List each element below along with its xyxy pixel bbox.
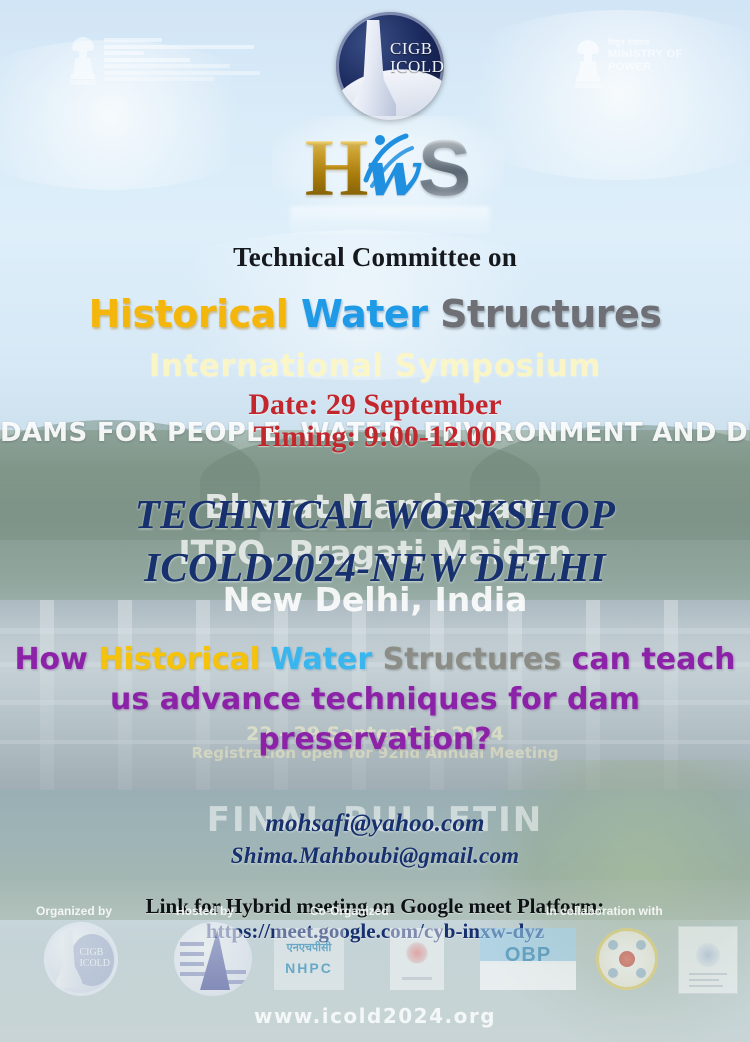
footer-label-organized-by: Organized by <box>36 904 112 918</box>
footer-obp-text: OBP <box>480 944 576 967</box>
workshop-line2: ICOLD2024-NEW DELHI <box>0 543 750 591</box>
page-title: Historical Water Structures <box>0 292 750 336</box>
footer-label-co-organized: Co-Organized <box>310 904 389 918</box>
footer-logo-nhpc[interactable]: एनएचपीसी NHPC <box>274 928 344 990</box>
question-block: How Historical Water Structures can teac… <box>0 640 750 760</box>
poster-root: International Symposium DAMS FOR PEOPLE,… <box>0 0 750 1042</box>
question-word-canteach: can teach <box>572 642 736 677</box>
cigb-icold-logo: CIGB ICOLD <box>336 12 444 120</box>
question-line2: us advance techniques for dam <box>0 680 750 720</box>
ministry-english-line1: MINISTRY OF <box>608 48 683 61</box>
title-part-historical: Historical <box>89 292 289 336</box>
government-of-india-emblem <box>70 35 260 87</box>
icold-logo-text: CIGB ICOLD <box>390 40 444 77</box>
footer-icold-text1: CIGB <box>79 948 110 959</box>
ministry-english-line2: POWER <box>608 61 683 74</box>
footer-logo-cwc[interactable] <box>174 922 252 996</box>
emblem-left-text-lines <box>104 35 260 87</box>
question-line1: How Historical Water Structures can teac… <box>0 640 750 680</box>
footer-nhpc-hindi: एनएचपीसी <box>274 940 344 955</box>
footer-icold-text2: ICOLD <box>79 959 110 970</box>
committee-prefix: Technical Committee on <box>0 242 750 273</box>
icold-logo-line1: CIGB <box>390 40 444 58</box>
contact-email-1[interactable]: mohsafi@yahoo.com <box>0 810 750 838</box>
footer-logo-certificate[interactable] <box>678 926 738 994</box>
title-part-water: Water <box>301 292 427 336</box>
footer-logo-strip: Organized by Hosted by Co-Organized In c… <box>0 900 750 1010</box>
footer-label-hosted-by: Hosted by <box>176 904 234 918</box>
footer-label-collaboration: In collaboration with <box>546 904 663 918</box>
workshop-line1: TECHNICAL WORKSHOP <box>0 490 750 538</box>
title-part-structures: Structures <box>440 292 661 336</box>
footer-logo-obp[interactable]: OBP <box>480 928 576 990</box>
ministry-of-power-text: विद्युत मंत्रालय MINISTRY OF POWER <box>608 38 683 90</box>
footer-logo-round-gold[interactable] <box>596 928 658 990</box>
event-date: Date: 29 September <box>0 388 750 422</box>
hws-letter-h: H <box>305 131 369 205</box>
contact-email-2[interactable]: Shima.Mahboubi@gmail.com <box>0 843 750 869</box>
question-word-historical: Historical <box>98 642 260 677</box>
question-word-structures: Structures <box>383 642 562 677</box>
question-word-water: Water <box>270 642 372 677</box>
hws-logo: H w S <box>272 116 504 220</box>
icold-logo-line2: ICOLD <box>390 58 444 76</box>
ashoka-pillar-icon <box>70 35 96 87</box>
hws-letter-s: S <box>418 132 471 204</box>
ministry-of-power-emblem: विद्युत मंत्रालय MINISTRY OF POWER <box>575 38 683 90</box>
hws-logo-reflection <box>290 206 490 240</box>
event-time: Timing: 9:00-12.00 <box>0 420 750 454</box>
ashoka-pillar-icon <box>575 38 601 90</box>
footer-logo-icold[interactable]: CIGB ICOLD <box>44 922 118 996</box>
ministry-hindi-label: विद्युत मंत्रालय <box>608 38 683 48</box>
question-word-how: How <box>14 642 87 677</box>
footer-nhpc-text: NHPC <box>274 960 344 976</box>
footer-logo-partner-white[interactable] <box>390 928 444 990</box>
hws-letter-w: w <box>367 146 420 202</box>
question-line3: preservation? <box>0 720 750 760</box>
